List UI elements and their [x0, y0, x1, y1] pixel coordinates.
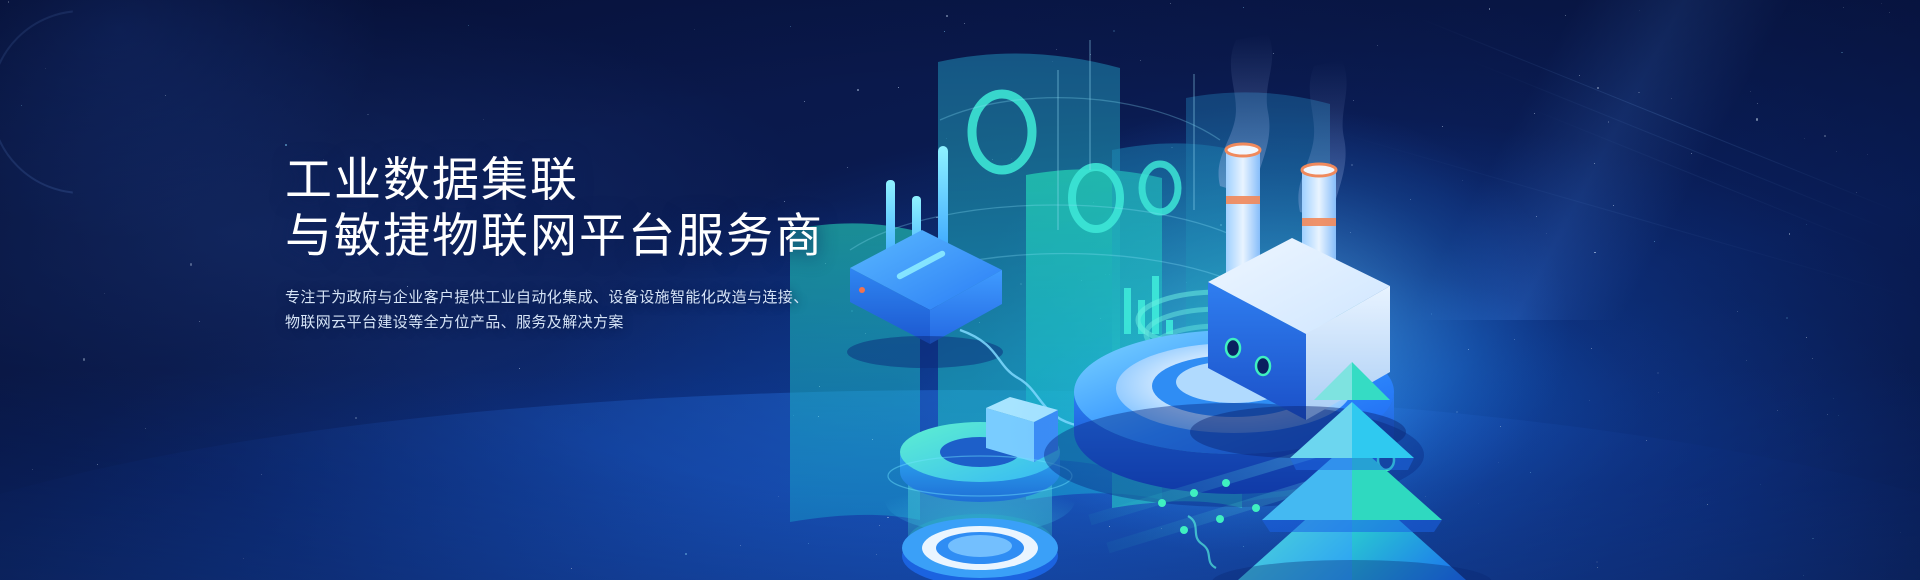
stack-band	[1302, 218, 1336, 226]
headline-line-2: 与敏捷物联网平台服务商	[285, 208, 925, 264]
hero-text-block: 工业数据集联 与敏捷物联网平台服务商 专注于为政府与企业客户提供工业自动化集成、…	[285, 152, 925, 335]
headline-line-1: 工业数据集联	[285, 152, 925, 208]
subtitle-line-1: 专注于为政府与企业客户提供工业自动化集成、设备设施智能化改造与连接、	[285, 285, 925, 310]
subtitle-line-2: 物联网云平台建设等全方位产品、服务及解决方案	[285, 310, 925, 335]
pyramid-shadow	[1212, 560, 1492, 580]
hero-banner: 工业数据集联 与敏捷物联网平台服务商 专注于为政府与企业客户提供工业自动化集成、…	[0, 0, 1920, 580]
stack-band	[1226, 196, 1260, 204]
hero-illustration	[790, 0, 1920, 580]
